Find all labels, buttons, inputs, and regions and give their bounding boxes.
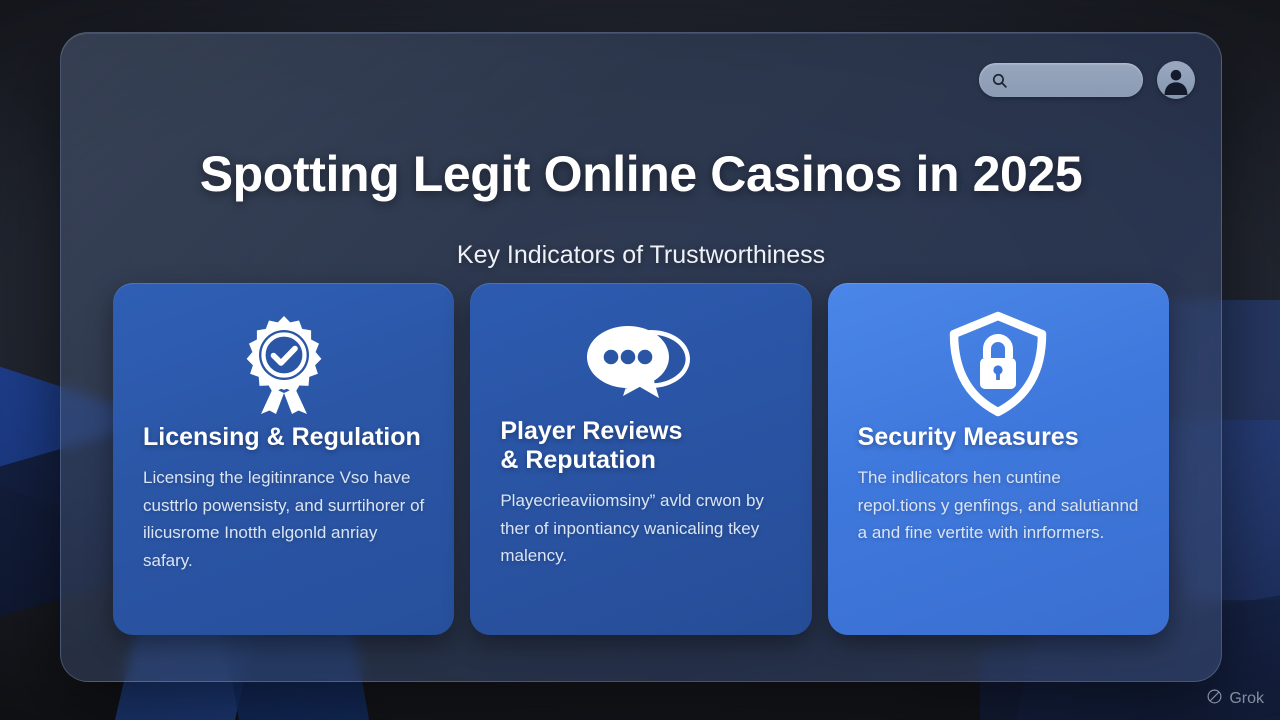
card-title-line1: Player Reviews [500,417,682,445]
card-description: Playecrieaviiomsiny” avld crwon by ther … [500,487,781,570]
card-body: Licensing & Regulation Licensing the leg… [113,423,454,574]
verified-badge-icon [113,283,454,423]
user-avatar-icon [1157,61,1195,99]
card-security-measures[interactable]: Security Measures The indlicators hen cu… [828,283,1169,635]
card-title-line2: & Reputation [500,446,656,474]
top-bar [979,61,1195,99]
card-title: Licensing & Regulation [143,423,424,452]
card-title: Security Measures [858,423,1139,452]
page-title: Spotting Legit Online Casinos in 2025 [61,145,1221,203]
card-licensing-regulation[interactable]: Licensing & Regulation Licensing the leg… [113,283,454,635]
card-body: Security Measures The indlicators hen cu… [828,423,1169,547]
chat-bubbles-icon [470,283,811,423]
page-subtitle: Key Indicators of Trustworthiness [61,241,1221,270]
card-body: Player Reviews & Reputation Playecrieavi… [470,417,811,570]
grok-label: Grok [1229,690,1264,708]
main-panel: Spotting Legit Online Casinos in 2025 Ke… [60,32,1222,682]
card-description: Licensing the legitinrance Vso have cust… [143,464,424,574]
avatar[interactable] [1157,61,1195,99]
search-icon [991,72,1008,89]
search-input[interactable] [979,63,1143,97]
card-player-reviews-reputation[interactable]: Player Reviews & Reputation Playecrieavi… [470,283,811,635]
card-description: The indlicators hen cuntine repol.tions … [858,464,1139,547]
card-row: Licensing & Regulation Licensing the leg… [113,283,1169,635]
grok-logo-icon [1206,688,1223,710]
shield-lock-icon [828,283,1169,423]
grok-watermark: Grok [1206,688,1264,710]
card-title: Player Reviews & Reputation [500,417,781,475]
